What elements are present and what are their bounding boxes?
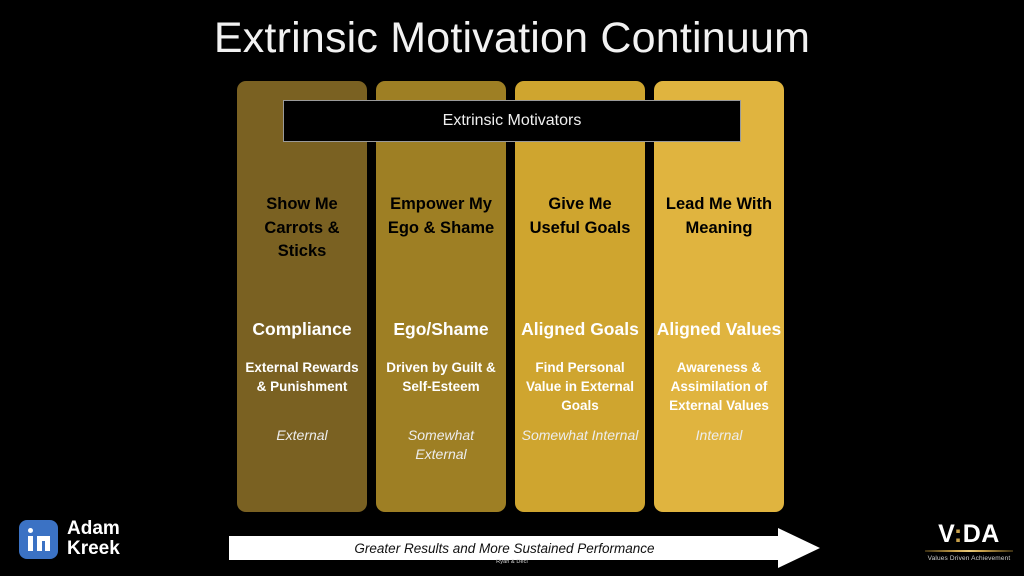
column-heading: Show Me Carrots & Sticks (237, 193, 367, 264)
column-term: Aligned Values (654, 318, 784, 340)
linkedin-icon[interactable] (19, 520, 58, 559)
column-locus: Internal (654, 426, 784, 445)
column-description: Awareness & Assimilation of External Val… (654, 358, 784, 415)
column-description: Find Personal Value in External Goals (515, 358, 645, 415)
slide-canvas: Extrinsic Motivation Continuum Show Me C… (0, 0, 1024, 576)
arrow-label: Greater Results and More Sustained Perfo… (229, 536, 780, 560)
column-term: Compliance (237, 318, 367, 340)
author-last-name: Kreek (67, 539, 120, 559)
column-term: Aligned Goals (515, 318, 645, 340)
column-locus: Somewhat External (376, 426, 506, 464)
vida-logo[interactable]: V:DA Values Driven Achievement (923, 521, 1015, 563)
page-title: Extrinsic Motivation Continuum (0, 14, 1024, 62)
vida-letters-da: DA (963, 520, 1000, 548)
author-name: Adam Kreek (67, 519, 120, 559)
continuum-column-4[interactable]: Lead Me With Meaning Aligned Values Awar… (654, 81, 784, 512)
linkedin-credit[interactable]: Adam Kreek (19, 519, 120, 559)
column-locus: Somewhat Internal (515, 426, 645, 445)
continuum-column-1[interactable]: Show Me Carrots & Sticks Compliance Exte… (237, 81, 367, 512)
column-description: External Rewards & Punishment (237, 358, 367, 396)
continuum-columns: Show Me Carrots & Sticks Compliance Exte… (237, 81, 795, 512)
source-attribution: Ryan & Deci (0, 558, 1024, 566)
column-locus: External (237, 426, 367, 445)
vida-colon-icon: : (954, 520, 963, 548)
vida-divider (925, 550, 1013, 552)
column-term: Ego/Shame (376, 318, 506, 340)
continuum-column-3[interactable]: Give Me Useful Goals Aligned Goals Find … (515, 81, 645, 512)
column-heading: Give Me Useful Goals (515, 193, 645, 240)
author-first-name: Adam (67, 519, 120, 539)
continuum-column-2[interactable]: Empower My Ego & Shame Ego/Shame Driven … (376, 81, 506, 512)
banner-label: Extrinsic Motivators (443, 112, 582, 130)
vida-letter-v: V (938, 520, 954, 548)
column-heading: Empower My Ego & Shame (376, 193, 506, 240)
extrinsic-motivators-banner: Extrinsic Motivators (283, 100, 741, 142)
column-description: Driven by Guilt & Self-Esteem (376, 358, 506, 396)
vida-tagline: Values Driven Achievement (923, 554, 1015, 563)
column-heading: Lead Me With Meaning (654, 193, 784, 240)
vida-wordmark: V:DA (923, 521, 1015, 548)
